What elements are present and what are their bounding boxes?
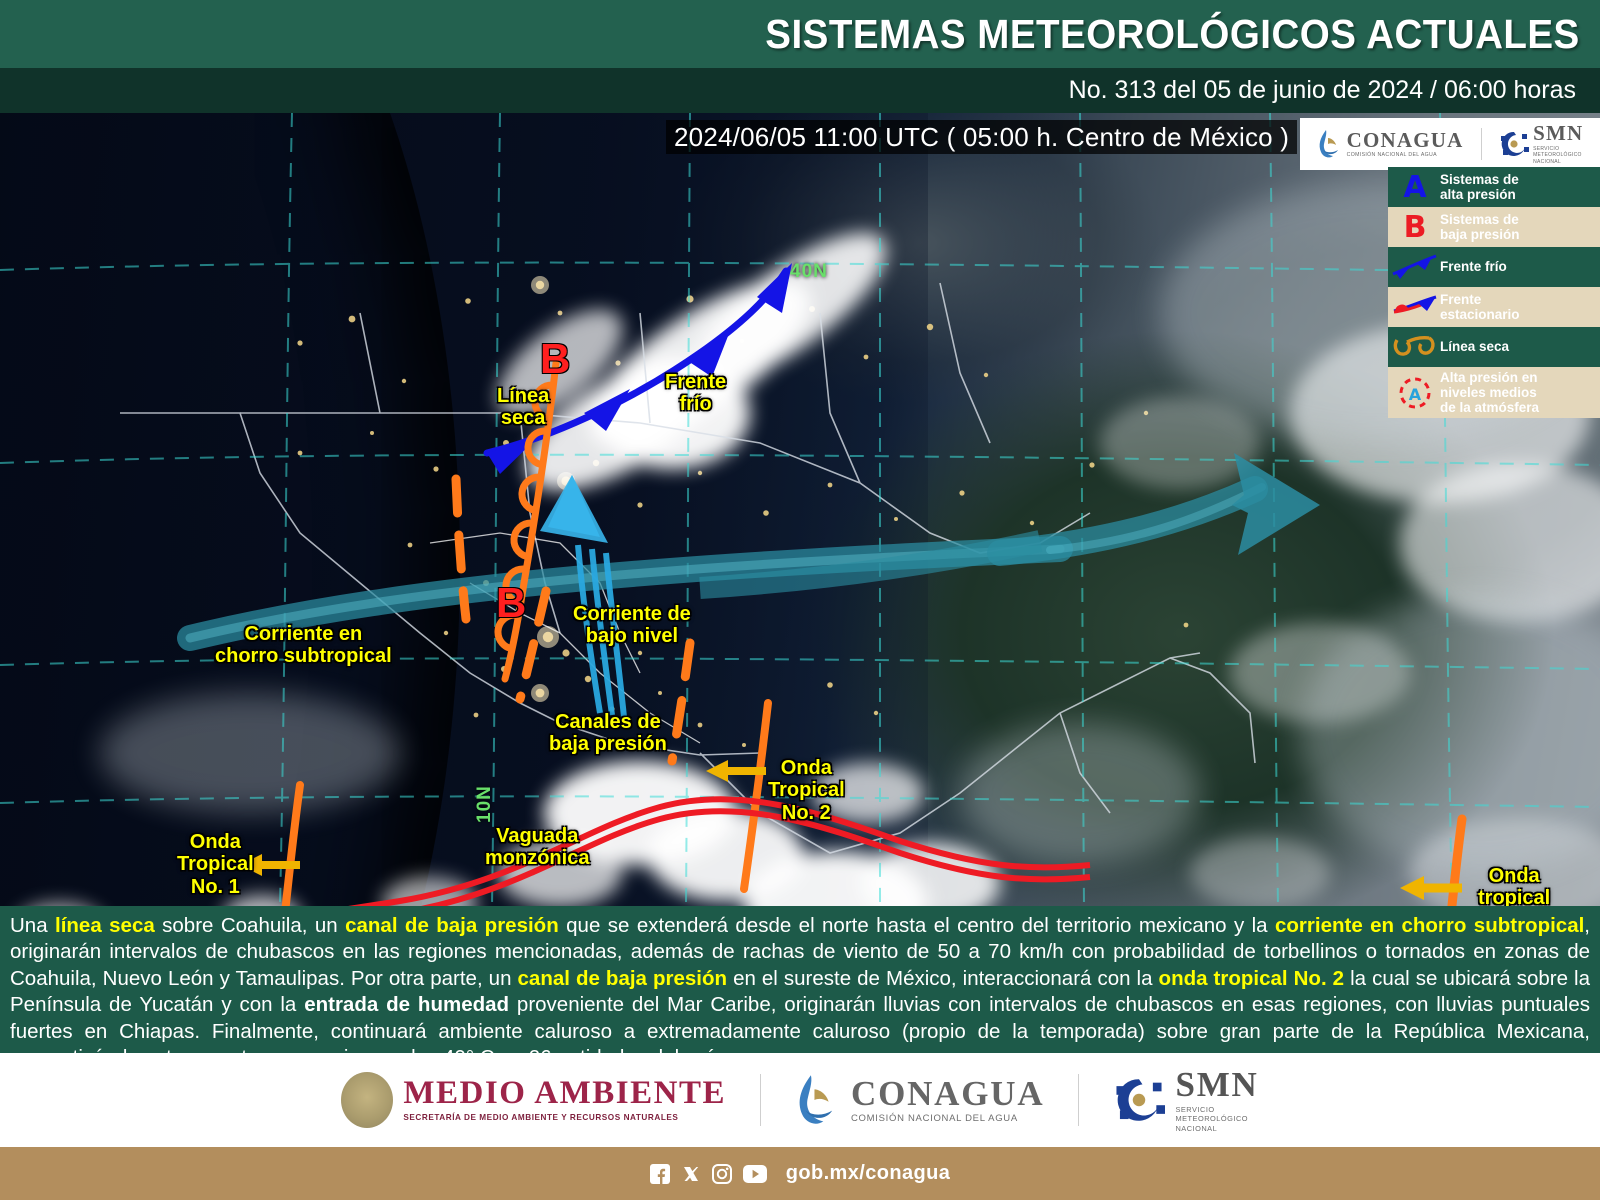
low-pressure-channels-label: Canales de baja presión [549,711,667,756]
legend-low-line1: Sistemas de [1440,212,1520,227]
tropical-wave-2-label-line1: Onda [768,757,845,779]
legend-item-mid-level-high: A Alta presión en niveles medios de la a… [1388,367,1600,418]
monsoon-trough-label-line2: monzónica [485,847,589,869]
legend-label-high-pressure: Sistemas de alta presión [1440,172,1519,202]
low-level-jet-label-line2: bajo nivel [573,625,691,647]
subtropical-jet-label: Corriente en chorro subtropical [215,623,392,668]
social-bar: gob.mx/conagua [0,1147,1600,1200]
medio-ambiente-wordmark: MEDIO AMBIENTE [403,1077,726,1110]
header-subbar: No. 313 del 05 de junio de 2024 / 06:00 … [0,68,1600,113]
tropical-wave-east-label-line1: Onda [1478,865,1550,887]
desc-segment: onda tropical No. 2 [1159,967,1345,990]
smn-spiral-icon [1499,129,1529,159]
desc-segment: corriente en chorro subtropical [1275,914,1584,937]
footer-smn-wordmark: SMN [1175,1067,1258,1102]
smn-tagline: SERVICIO METEOROLÓGICO NACIONAL [1533,146,1583,165]
low-pressure-north-marker: B [540,335,570,382]
low-level-jet-label: Corriente de bajo nivel [573,603,691,648]
legend-midhigh-line1: Alta presión en [1440,370,1539,385]
legend-item-high-pressure: A Sistemas de alta presión [1388,167,1600,207]
footer-divider-1 [760,1074,761,1126]
footer-conagua-water-icon [795,1073,841,1127]
legend-label-cold-front: Frente frío [1440,259,1507,274]
letter-a-blue-icon: A [1390,170,1440,204]
tropical-wave-east-label: Onda tropical [1478,865,1550,906]
medio-ambiente-tagline: SECRETARÍA DE MEDIO AMBIENTE Y RECURSOS … [403,1114,726,1122]
legend-high-line2: alta presión [1440,187,1519,202]
legend-label-dry-line: Línea seca [1440,339,1509,354]
dry-line-label-line2: seca [497,407,549,429]
footer-logo-bar: MEDIO AMBIENTE SECRETARÍA DE MEDIO AMBIE… [0,1053,1600,1147]
youtube-icon[interactable] [743,1165,767,1183]
legend-item-cold-front: Frente frío [1388,247,1600,287]
cold-front-label-line1: Frente [665,371,726,393]
page-title: SISTEMAS METEOROLÓGICOS ACTUALES [765,11,1600,58]
desc-segment: canal de baja presión [518,967,728,990]
forecast-description-panel: Una línea seca sobre Coahuila, un canal … [0,906,1600,1053]
medio-ambiente-logo: MEDIO AMBIENTE SECRETARÍA DE MEDIO AMBIE… [341,1072,726,1128]
low-pressure-channels-label-line1: Canales de [549,711,667,733]
desc-segment: línea seca [55,914,155,937]
low-level-jet-label-line1: Corriente de [573,603,691,625]
footer-smn-spiral-icon [1113,1074,1165,1126]
legend-glyph-b: B [1404,210,1427,245]
instagram-icon[interactable] [712,1164,732,1184]
smn-wordmark: SMN [1533,123,1583,144]
stationary-front-symbol-icon [1390,290,1440,324]
tropical-wave-2-line [744,703,768,889]
satellite-map: 40N 10N [0,113,1600,906]
footer-smn-tagline-1: SERVICIO [1175,1105,1258,1115]
legend-coldfront-line1: Frente frío [1440,259,1507,274]
conagua-tagline: COMISIÓN NACIONAL DEL AGUA [1347,153,1464,158]
cold-front-label: Frente frío [665,371,726,416]
desc-segment: entrada de humedad [304,993,509,1016]
conagua-water-icon [1317,129,1343,159]
footer-conagua-tagline: COMISIÓN NACIONAL DEL AGUA [851,1114,1044,1124]
low-pressure-central-marker: B [496,579,526,626]
legend-item-dry-line: Línea seca [1388,327,1600,367]
map-legend: A Sistemas de alta presión B Sistemas de… [1388,167,1600,418]
footer-smn-logo: SMN SERVICIO METEOROLÓGICO NACIONAL [1113,1067,1258,1134]
smn-tagline-2: METEOROLÓGICO [1533,152,1583,158]
timestamp-text: 2024/06/05 11:00 UTC ( 05:00 h. Centro d… [674,122,1289,153]
legend-low-line2: baja presión [1440,227,1520,242]
legend-statfront-line2: estacionario [1440,307,1520,322]
legend-glyph-a: A [1403,170,1426,205]
facebook-icon[interactable] [650,1164,670,1184]
smn-logo: SMN SERVICIO METEOROLÓGICO NACIONAL [1499,123,1583,165]
footer-smn-tagline: SERVICIO METEOROLÓGICO NACIONAL [1175,1105,1258,1134]
cold-front-label-line2: frío [665,393,726,415]
conagua-logo: CONAGUA COMISIÓN NACIONAL DEL AGUA [1317,129,1464,159]
desc-segment: canal de baja presión [345,914,559,937]
legend-statfront-line1: Frente [1440,292,1520,307]
tropical-wave-2-label-line3: No. 2 [768,802,845,824]
tropical-wave-1-label-line3: No. 1 [177,876,254,898]
legend-label-low-pressure: Sistemas de baja presión [1440,212,1520,242]
desc-segment: en el sureste de México, interaccionará … [727,967,1159,990]
tropical-wave-2-label: Onda Tropical No. 2 [768,757,845,824]
legend-midhigh-line3: de la atmósfera [1440,400,1539,415]
dry-line-label-line1: Línea [497,385,549,407]
tropical-wave-east-label-line2: tropical [1478,887,1550,906]
subtropical-jet-label-line2: chorro subtropical [215,645,392,667]
legend-dryline-line1: Línea seca [1440,339,1509,354]
desc-segment: Una [10,914,55,937]
legend-label-stationary-front: Frente estacionario [1440,292,1520,322]
weather-infographic: SISTEMAS METEOROLÓGICOS ACTUALES No. 313… [0,0,1600,1200]
mexico-eagle-seal-icon [341,1072,393,1128]
jet-arrowhead [1232,453,1320,555]
dry-line-symbol-icon [1390,330,1440,364]
tropical-wave-1-label-line2: Tropical [177,853,254,875]
legend-item-stationary-front: Frente estacionario [1388,287,1600,327]
letter-b-red-icon: B [1390,210,1440,244]
dry-line-label: Línea seca [497,385,549,430]
logo-divider [1481,128,1482,160]
footer-conagua-logo: CONAGUA COMISIÓN NACIONAL DEL AGUA [795,1073,1044,1127]
tropical-wave-1-line [280,785,300,906]
forecast-description-text: Una línea seca sobre Coahuila, un canal … [10,913,1590,1072]
header-bar: SISTEMAS METEOROLÓGICOS ACTUALES [0,0,1600,68]
cold-front-symbol-icon [1390,250,1440,284]
tropical-wave-east-line [1442,819,1462,906]
subtropical-jet-label-line1: Corriente en [215,623,392,645]
monsoon-trough-label: Vaguada monzónica [485,825,589,870]
monsoon-trough-label-line1: Vaguada [485,825,589,847]
timestamp-strip: 2024/06/05 11:00 UTC ( 05:00 h. Centro d… [666,120,1297,154]
social-url[interactable]: gob.mx/conagua [786,1162,951,1185]
smn-tagline-3: NACIONAL [1533,159,1583,165]
agency-logo-card: CONAGUA COMISIÓN NACIONAL DEL AGUA SMN S… [1300,118,1600,170]
tropical-wave-1-label-line1: Onda [177,831,254,853]
svg-text:A: A [1409,385,1422,404]
low-pressure-channel-southeast [672,643,690,761]
tropical-wave-1-label: Onda Tropical No. 1 [177,831,254,898]
legend-item-low-pressure: B Sistemas de baja presión [1388,207,1600,247]
bulletin-number-date: No. 313 del 05 de junio de 2024 / 06:00 … [1069,76,1600,105]
desc-segment: sobre Coahuila, un [155,914,345,937]
low-pressure-channels-label-line2: baja presión [549,733,667,755]
footer-smn-tagline-2: METEOROLÓGICO [1175,1114,1258,1124]
tropical-wave-2-label-line2: Tropical [768,779,845,801]
footer-conagua-wordmark: CONAGUA [851,1076,1044,1111]
footer-smn-tagline-3: NACIONAL [1175,1124,1258,1134]
x-icon[interactable] [681,1164,701,1184]
legend-midhigh-line2: niveles medios [1440,385,1539,400]
legend-high-line1: Sistemas de [1440,172,1519,187]
desc-segment: que se extenderá desde el norte hasta el… [559,914,1275,937]
legend-label-mid-level-high: Alta presión en niveles medios de la atm… [1440,370,1539,415]
conagua-wordmark: CONAGUA [1347,130,1464,151]
footer-divider-2 [1078,1074,1079,1126]
mid-level-high-symbol-icon: A [1390,376,1440,410]
